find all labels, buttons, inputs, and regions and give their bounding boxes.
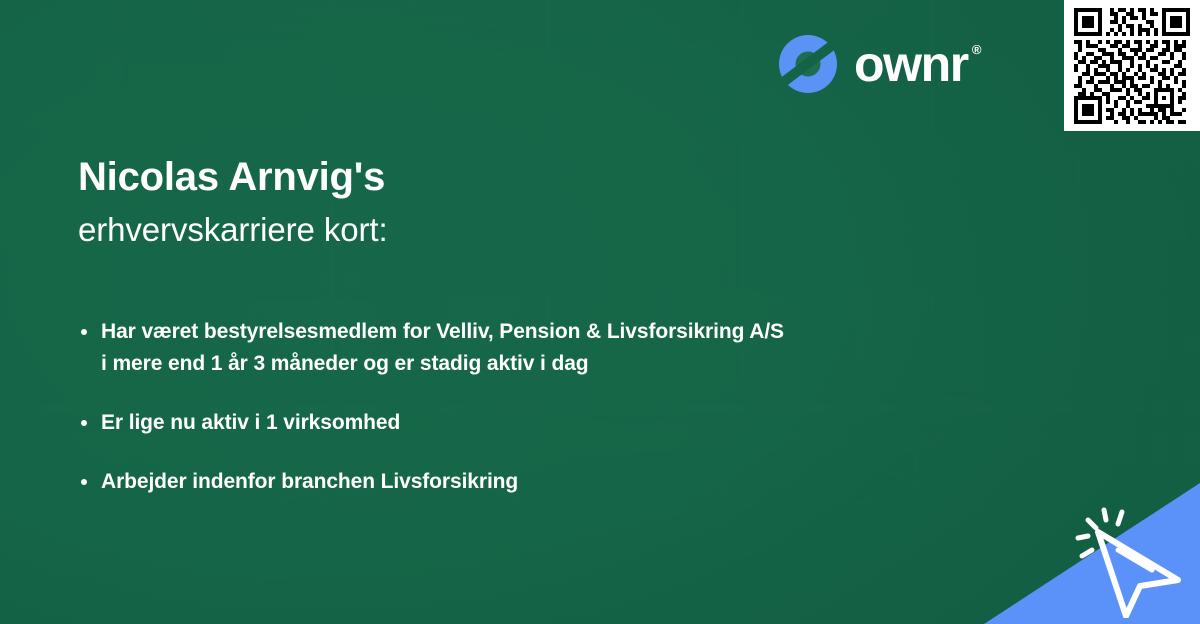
bullet-dot-icon — [81, 479, 87, 485]
qr-code-panel[interactable] — [1064, 0, 1200, 131]
title-block: Nicolas Arnvig's erhvervskarriere kort: — [78, 155, 388, 249]
ownr-circle-mark-icon — [777, 33, 839, 95]
ownr-wordmark: ownr ® — [854, 39, 980, 89]
list-item: Har været bestyrelsesmedlem for Velliv, … — [78, 316, 978, 380]
bullet-dot-icon — [81, 329, 87, 335]
fact-line-2: i mere end 1 år 3 måneder og er stadig a… — [101, 352, 589, 375]
list-item: Arbejder indenfor branchen Livsforsikrin… — [78, 466, 978, 498]
qr-code-icon[interactable] — [1073, 8, 1191, 124]
card-content: Nicolas Arnvig's erhvervskarriere kort: … — [0, 0, 1200, 624]
career-card: Nicolas Arnvig's erhvervskarriere kort: … — [0, 0, 1200, 624]
fact-line-1: Arbejder indenfor branchen Livsforsikrin… — [101, 470, 518, 493]
ownr-wordmark-text: ownr — [854, 39, 968, 89]
card-subtitle: erhvervskarriere kort: — [78, 210, 388, 250]
click-cursor-icon — [1074, 506, 1192, 618]
ownr-logo[interactable]: ownr ® — [777, 33, 980, 95]
fact-line-1: Er lige nu aktiv i 1 virksomhed — [101, 411, 400, 434]
person-name: Nicolas Arnvig's — [78, 155, 388, 200]
bullet-dot-icon — [81, 420, 87, 426]
career-facts-list: Har været bestyrelsesmedlem for Velliv, … — [78, 316, 978, 498]
registered-trademark-icon: ® — [972, 43, 980, 56]
fact-line-1: Har været bestyrelsesmedlem for Velliv, … — [101, 320, 784, 343]
list-item: Er lige nu aktiv i 1 virksomhed — [78, 407, 978, 439]
